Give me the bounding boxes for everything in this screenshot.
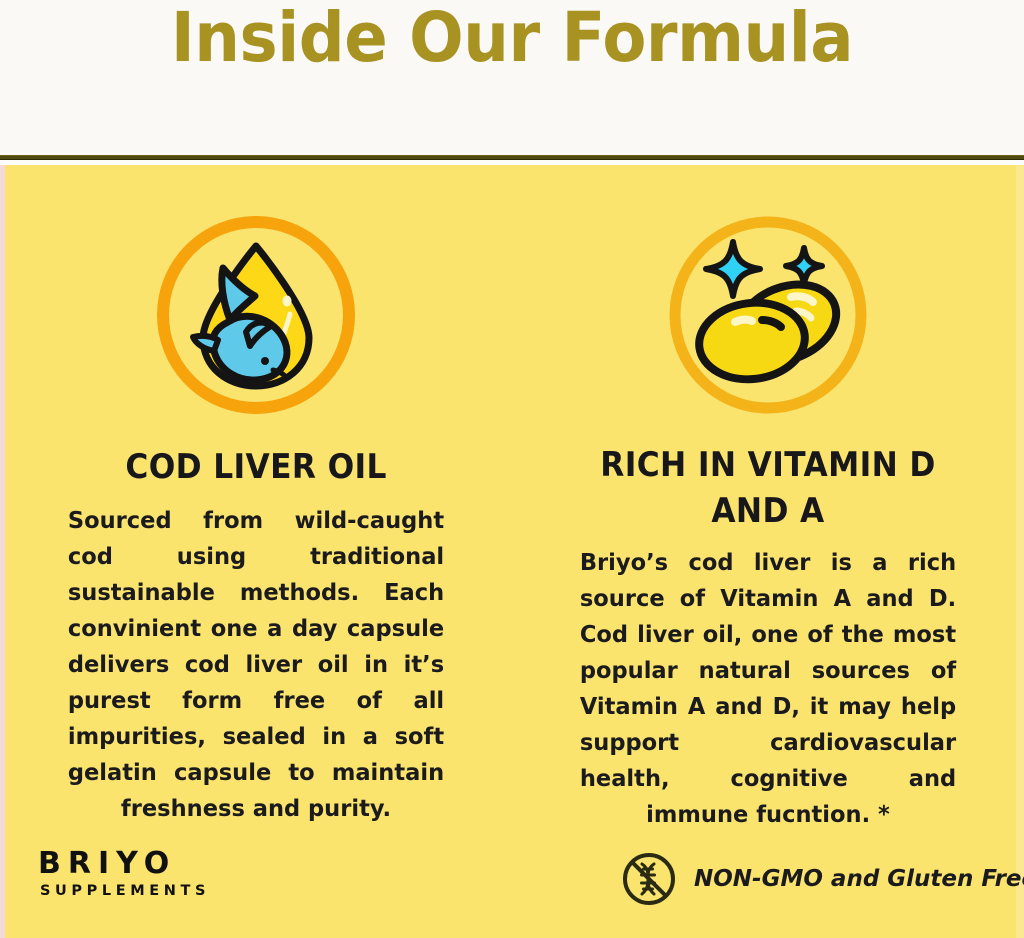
feature-title-vitamin-d-and-a: RICH IN VITAMIN D AND A (593, 442, 943, 534)
brand-name: BRIYO (38, 848, 210, 880)
header: Inside Our Formula (0, 0, 1024, 157)
brand-tagline: SUPPLEMENTS (40, 883, 210, 899)
feature-body-cod-liver-oil: Sourced from wild-caught cod using tradi… (68, 502, 444, 826)
feature-column-cod-liver-oil: COD LIVER OIL Sourced from wild-caught c… (0, 165, 512, 825)
feature-column-vitamin-d-and-a: RICH IN VITAMIN D AND A Briyo’s cod live… (512, 165, 1024, 825)
cod-liver-oil-droplet-fish-icon (151, 210, 361, 420)
feature-columns: COD LIVER OIL Sourced from wild-caught c… (0, 165, 1024, 825)
feature-title-cod-liver-oil: COD LIVER OIL (125, 444, 386, 490)
non-gmo-dna-no-symbol-icon (620, 850, 678, 908)
brand-logo: BRIYO SUPPLEMENTS (38, 848, 210, 899)
footer: BRIYO SUPPLEMENTS NON-G (0, 838, 1024, 938)
non-gmo-label: NON-GMO and Gluten Free (694, 865, 1024, 893)
non-gmo-badge: NON-GMO and Gluten Free (620, 850, 1024, 908)
feature-body-vitamin-d-and-a: Briyo’s cod liver is a rich source of Vi… (580, 544, 956, 832)
softgel-capsules-sparkle-icon (663, 210, 873, 420)
infographic-page: Inside Our Formula (0, 0, 1024, 938)
page-title: Inside Our Formula (36, 0, 988, 78)
